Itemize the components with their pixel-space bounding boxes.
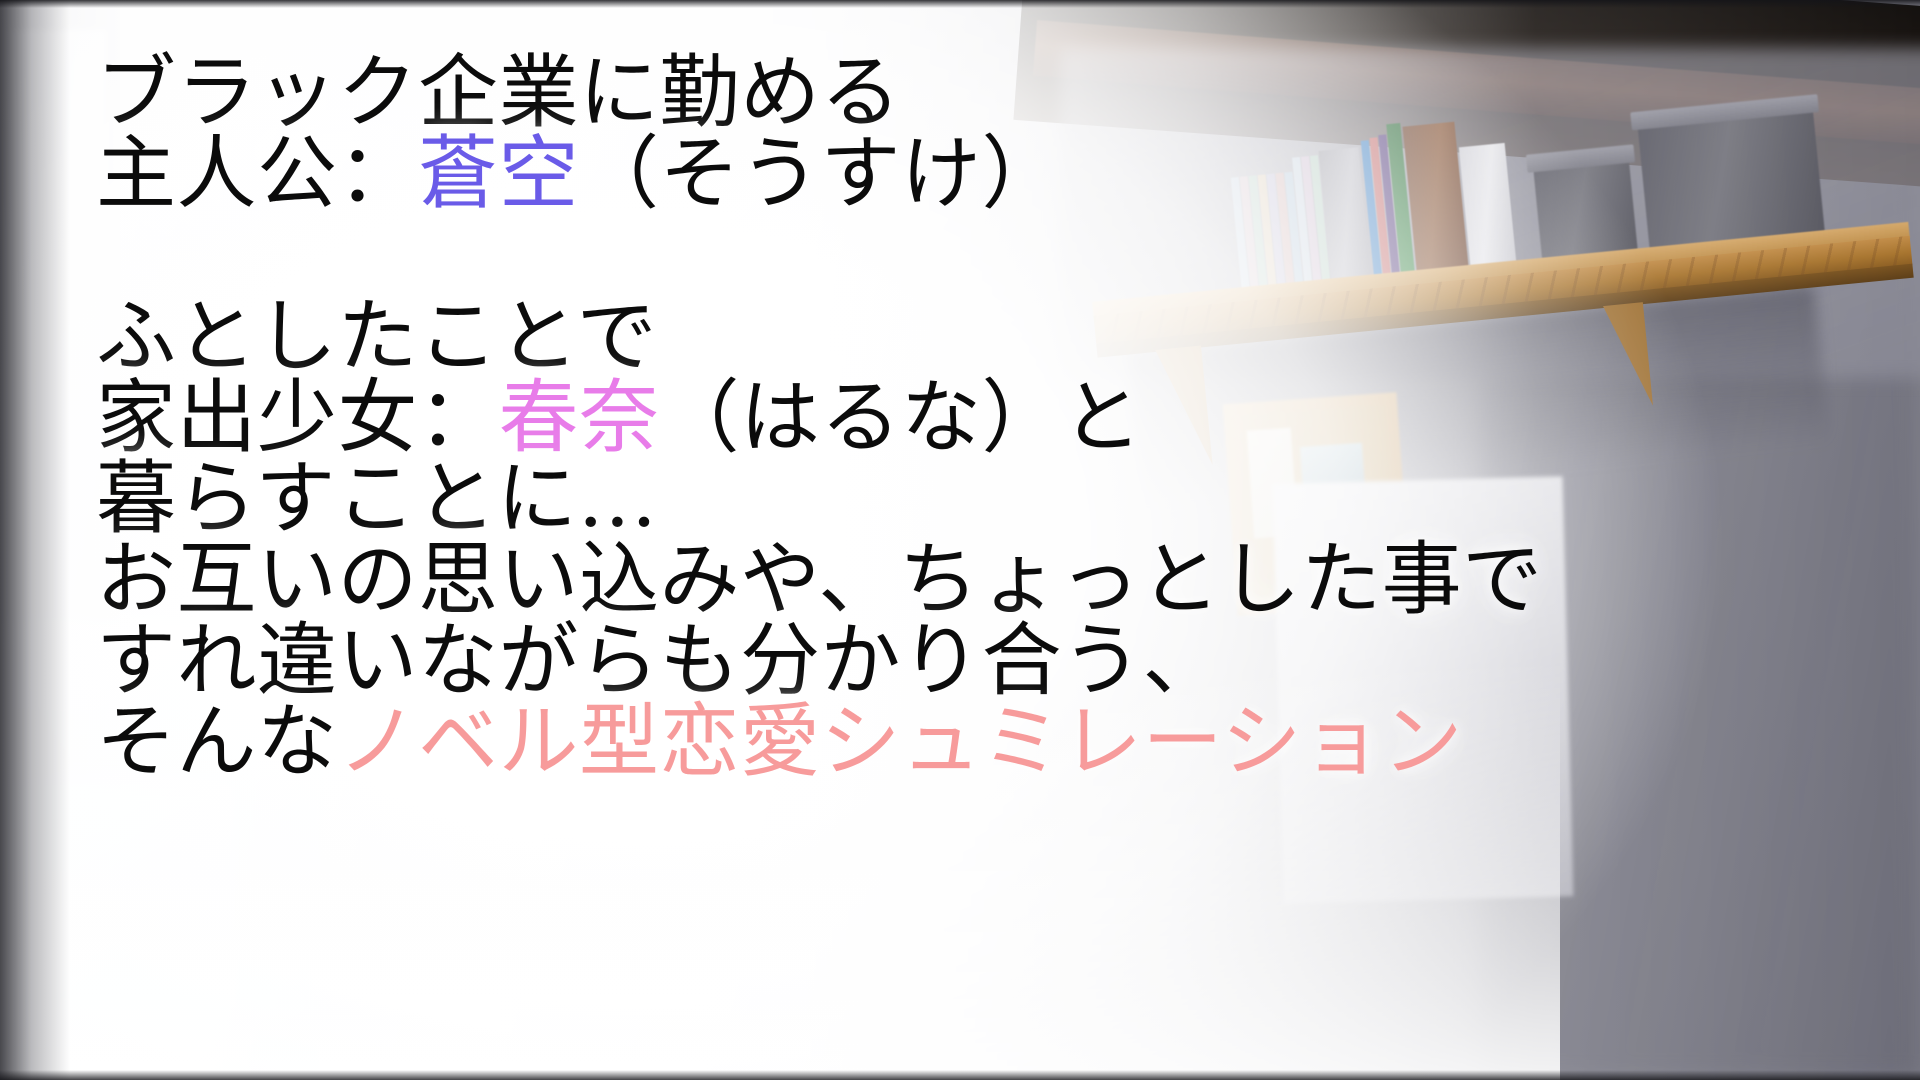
text-run: そんな — [96, 695, 338, 788]
left-vignette — [0, 0, 70, 1080]
text-run: ブラック企業に勤める — [96, 46, 901, 139]
highlighted-text-salmon: ノベル型恋愛シュミレーション — [338, 695, 1463, 788]
line-6: 暮らすことに… — [96, 458, 1596, 539]
line-7: お互いの思い込みや、ちょっとした事で — [96, 539, 1596, 620]
text-run: 主人公： — [96, 127, 418, 220]
text-run: 家出少女： — [96, 371, 499, 464]
bottom-edge-shade — [0, 1070, 1920, 1080]
highlighted-text-pink: 春奈 — [499, 371, 660, 464]
highlighted-text-blue: 蒼空 — [418, 127, 579, 220]
text-run: 暮らすことに… — [96, 452, 658, 545]
line-5: 家出少女：春奈（はるな）と — [96, 377, 1596, 458]
line-1: ブラック企業に勤める — [96, 52, 1596, 133]
text-run: お互いの思い込みや、ちょっとした事で — [96, 533, 1543, 626]
line-8: すれ違いながらも分かり合う、 — [96, 620, 1596, 701]
text-run: ふとしたことで — [96, 290, 657, 383]
text-run: （そうすけ） — [579, 127, 1062, 220]
visual-novel-screen[interactable]: ブラック企業に勤める主人公：蒼空（そうすけ）ふとしたことで家出少女：春奈（はるな… — [0, 0, 1920, 1080]
text-run: （はるな）と — [660, 371, 1143, 464]
story-intro-text: ブラック企業に勤める主人公：蒼空（そうすけ）ふとしたことで家出少女：春奈（はるな… — [96, 52, 1596, 782]
line-9: そんなノベル型恋愛シュミレーション — [96, 701, 1596, 782]
line-3-blank — [96, 214, 1596, 296]
top-edge-shade — [0, 0, 1920, 8]
line-2: 主人公：蒼空（そうすけ） — [96, 133, 1596, 214]
text-run: すれ違いながらも分かり合う、 — [96, 614, 1223, 707]
line-4: ふとしたことで — [96, 296, 1596, 377]
